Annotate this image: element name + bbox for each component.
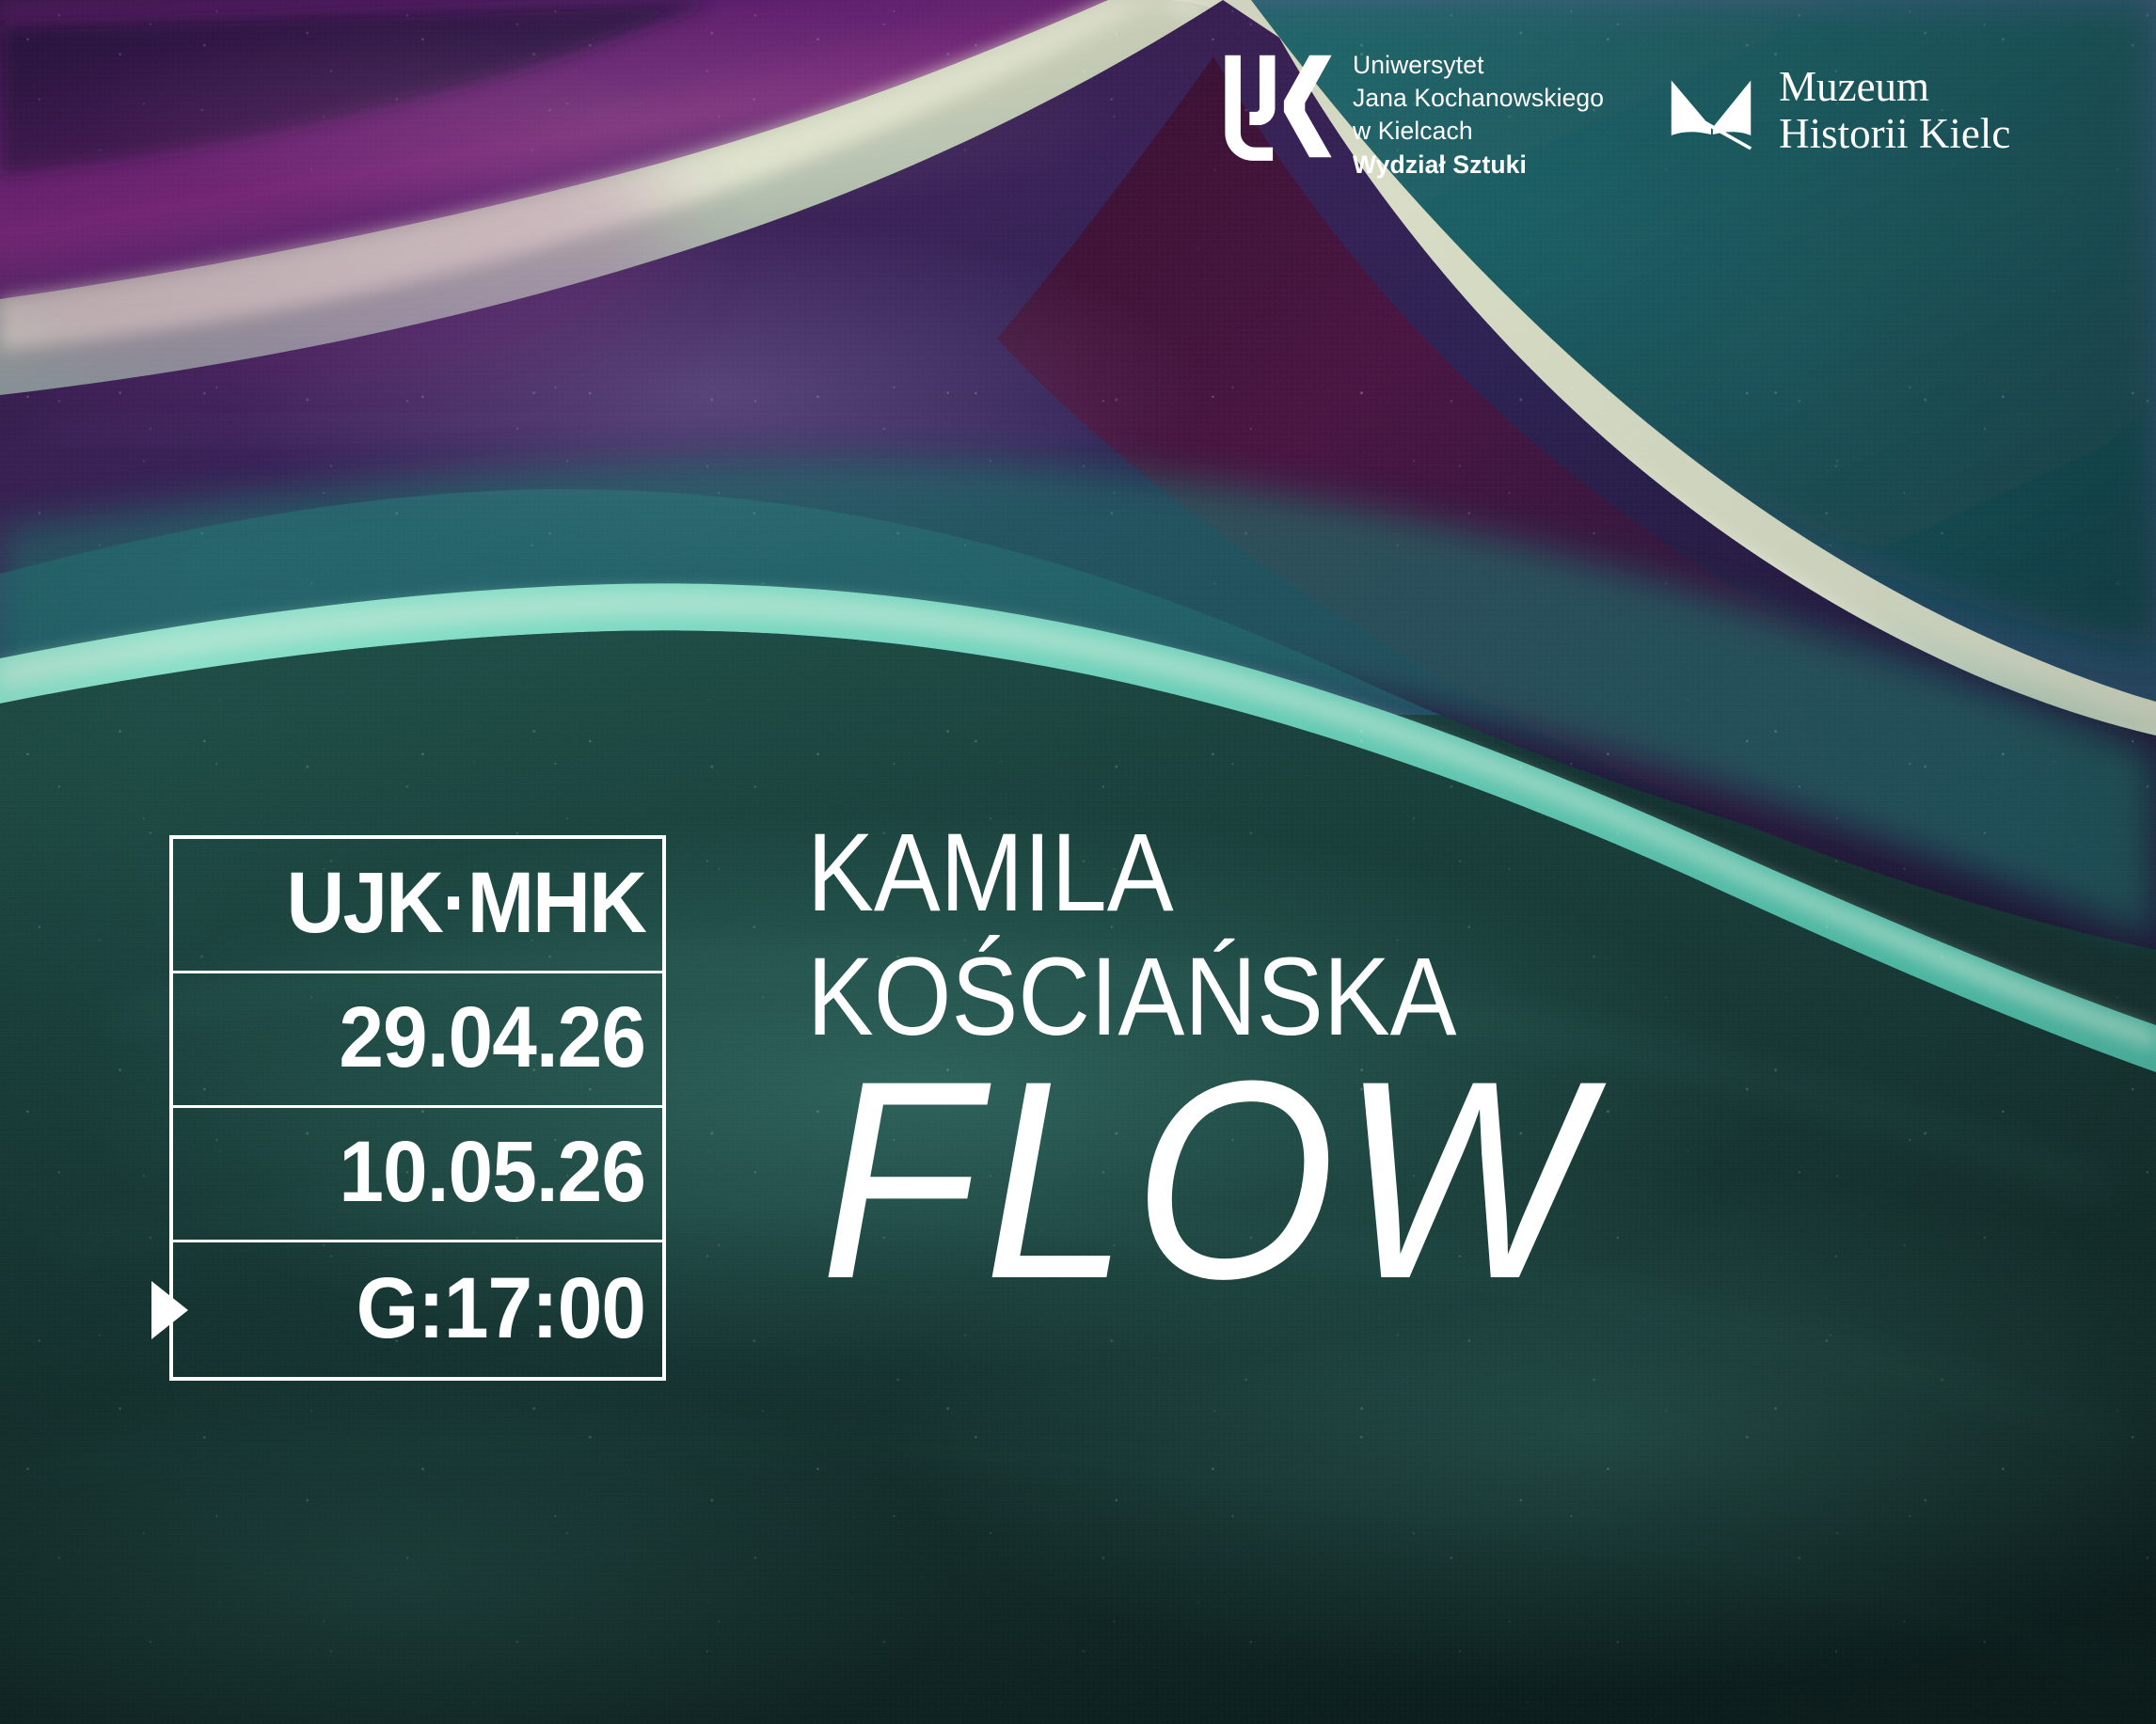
ujk-faculty: Wydział Sztuki [1353,149,1604,182]
bg-glow-cream [75,0,1129,226]
info-row-time: G:17:00 [173,1242,662,1377]
ujk-logo-text: Uniwersytet Jana Kochanowskiego w Kielca… [1353,49,1604,182]
artist-name-line-1: KAMILA [807,811,1457,935]
ujk-logo-mark [1223,51,1334,162]
ujk-line-2: Jana Kochanowskiego [1353,82,1604,115]
info-row-start-date: 29.04.26 [173,973,662,1108]
start-date-label: 29.04.26 [224,994,645,1081]
mhk-line-1: Muzeum [1779,63,2010,110]
ujk-logo[interactable]: Uniwersytet Jana Kochanowskiego w Kielca… [1223,47,1604,182]
exhibition-title: FLOW [820,1038,1591,1321]
exhibition-poster: Uniwersytet Jana Kochanowskiego w Kielca… [0,0,2156,1724]
mhk-line-2: Historii Kielc [1779,110,2010,157]
time-label: G:17:00 [224,1265,645,1352]
event-info-box: UJK·MHK 29.04.26 10.05.26 G:17:00 [169,835,666,1381]
play-triangle-icon [151,1281,188,1339]
mhk-logo-mark [1666,68,1756,158]
logo-bar: Uniwersytet Jana Kochanowskiego w Kielca… [1223,47,2010,182]
ujk-line-3: w Kielcach [1353,115,1604,148]
mhk-logo-text: Muzeum Historii Kielc [1779,63,2010,158]
info-row-institutions: UJK·MHK [173,839,662,973]
info-row-end-date: 10.05.26 [173,1108,662,1242]
mhk-logo[interactable]: Muzeum Historii Kielc [1666,68,2010,158]
end-date-label: 10.05.26 [224,1129,645,1215]
ujk-line-1: Uniwersytet [1353,49,1604,82]
institutions-label: UJK·MHK [224,860,645,946]
